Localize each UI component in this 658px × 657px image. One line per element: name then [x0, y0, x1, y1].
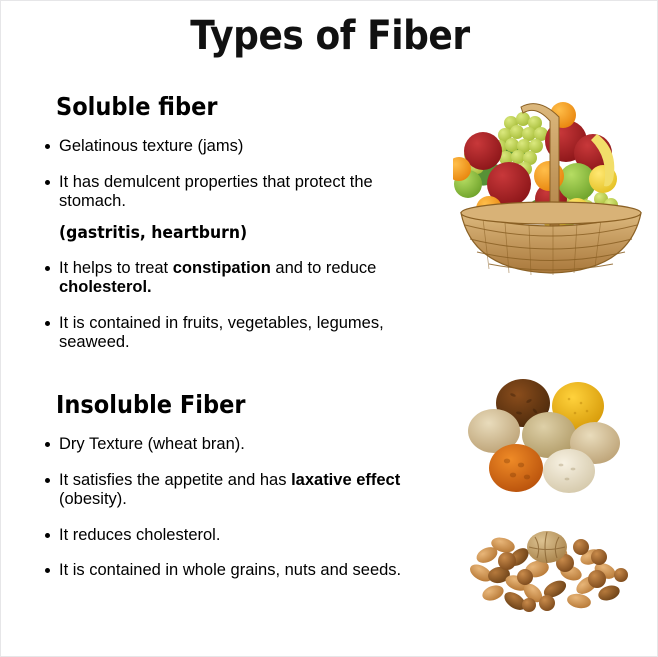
walnut	[527, 531, 567, 563]
bullet-list-insoluble: Dry Texture (wheat bran). It satisfies t…	[45, 435, 405, 581]
bullet-note: (gastritis, heartburn)	[59, 223, 377, 243]
list-item: It helps to treat constipation and to re…	[45, 259, 405, 298]
bullet-text: Gelatinous texture (jams)	[59, 137, 243, 155]
bullet-dot-icon	[45, 478, 50, 483]
fruit-basket-image	[453, 89, 649, 279]
infographic-page: Types of Fiber Soluble fiber Gelatinous …	[0, 0, 658, 657]
bullet-text-mid: (obesity).	[59, 490, 127, 508]
bullet-text-prefix: It helps to treat	[59, 259, 173, 277]
section-heading-soluble: Soluble fiber	[56, 93, 370, 121]
section-heading-insoluble: Insoluble Fiber	[56, 391, 370, 419]
bullet-text-bold: laxative effect	[291, 471, 400, 489]
bullet-text-bold: cholesterol.	[59, 278, 152, 296]
list-item: It satisfies the appetite and has laxati…	[45, 471, 405, 510]
bullet-dot-icon	[45, 533, 50, 538]
bullet-dot-icon	[45, 144, 50, 149]
bullet-dot-icon	[45, 266, 50, 271]
list-item: It is contained in whole grains, nuts an…	[45, 561, 405, 581]
bullet-dot-icon	[45, 442, 50, 447]
bullet-text: Dry Texture (wheat bran).	[59, 435, 245, 453]
mixed-nuts-illustration	[459, 513, 649, 621]
bullet-text: It reduces cholesterol.	[59, 526, 220, 544]
section-soluble-fiber: Soluble fiber Gelatinous texture (jams) …	[45, 93, 405, 353]
list-item: Dry Texture (wheat bran).	[45, 435, 405, 455]
fruit-basket-illustration	[453, 89, 649, 279]
bullet-text-bold: constipation	[173, 259, 271, 277]
bullet-dot-icon	[45, 180, 50, 185]
bullet-text-mid: and to reduce	[271, 259, 377, 277]
mixed-grains-image	[461, 373, 641, 495]
bullet-dot-icon	[45, 321, 50, 326]
sesame-pile	[543, 449, 595, 493]
bullet-text: It is contained in whole grains, nuts an…	[59, 561, 401, 579]
basket-body	[461, 202, 641, 275]
bullet-text: It has demulcent properties that protect…	[59, 173, 373, 211]
list-item: It has demulcent properties that protect…	[45, 173, 405, 243]
bullet-list-soluble: Gelatinous texture (jams) It has demulce…	[45, 137, 405, 353]
list-item: It is contained in fruits, vegetables, l…	[45, 314, 405, 353]
list-item: It reduces cholesterol.	[45, 526, 405, 546]
bullet-text-prefix: It satisfies the appetite and has	[59, 471, 291, 489]
list-item: Gelatinous texture (jams)	[45, 137, 405, 157]
mixed-nuts-image	[459, 513, 649, 621]
mixed-grains-illustration	[461, 373, 641, 495]
lentil-pile	[489, 444, 543, 492]
page-title: Types of Fiber	[34, 13, 626, 59]
bullet-dot-icon	[45, 568, 50, 573]
bullet-text: It is contained in fruits, vegetables, l…	[59, 314, 384, 352]
nut-cluster	[467, 531, 628, 614]
section-insoluble-fiber: Insoluble Fiber Dry Texture (wheat bran)…	[45, 391, 405, 581]
